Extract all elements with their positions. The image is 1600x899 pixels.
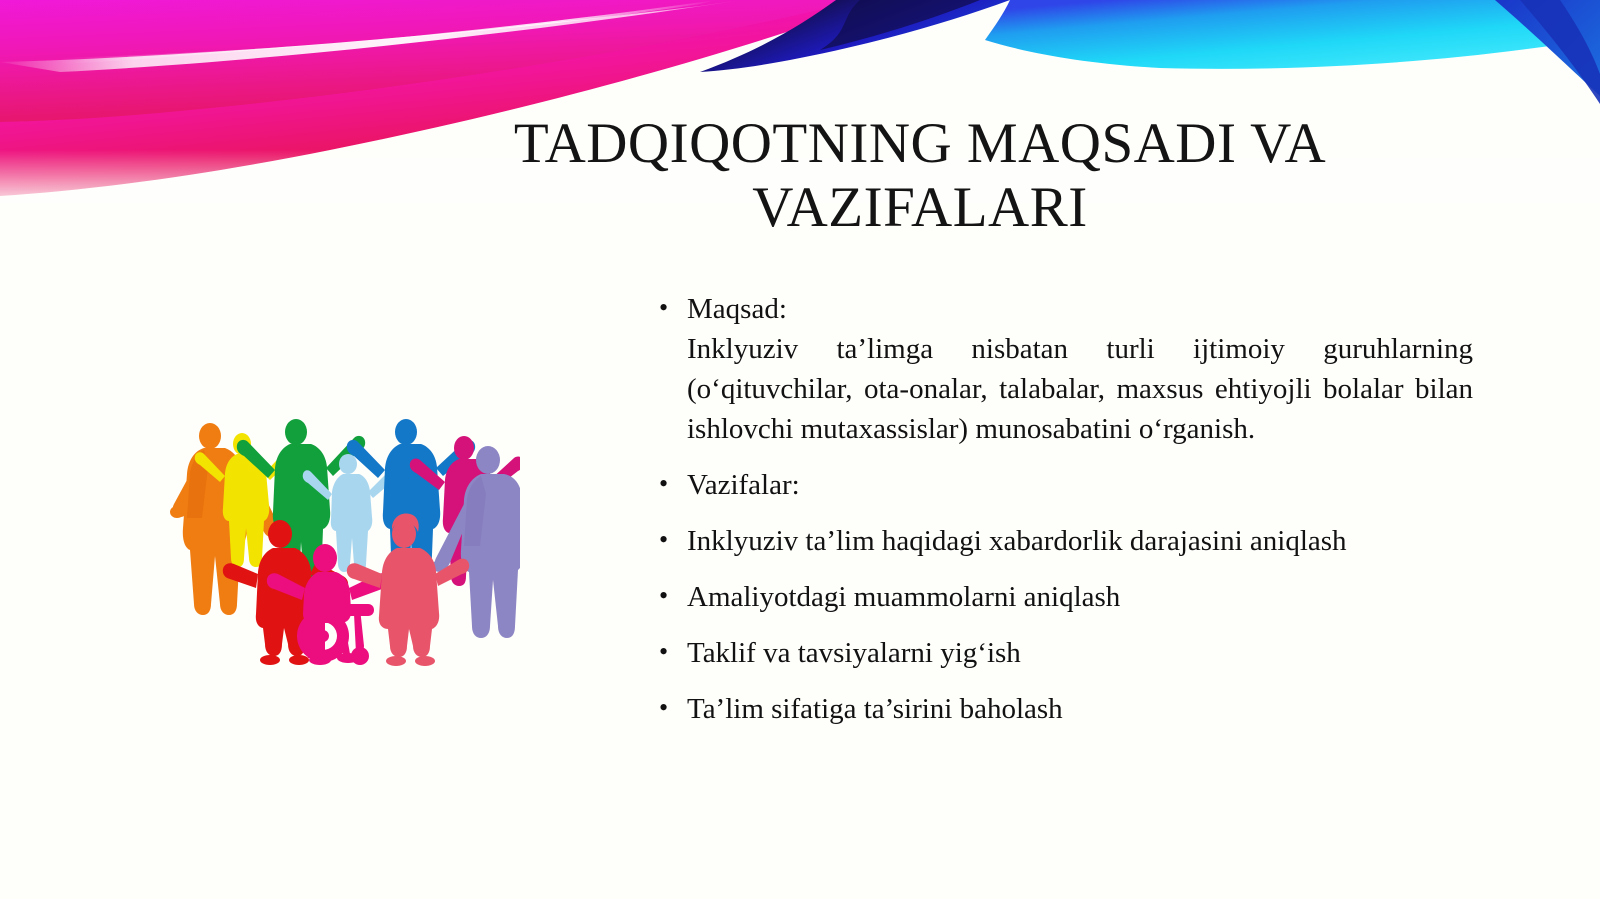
bullet-body-vazifalar: Vazifalar: (687, 465, 1473, 505)
bullet-body-muammolar: Amaliyotdagi muammolarni aniqlash (687, 577, 1473, 617)
bullet-paragraph-maqsad: Inklyuziv ta’limga nisbatan turli ijtimo… (687, 329, 1473, 449)
content-bullet-list: • Maqsad: Inklyuziv ta’limga nisbatan tu… (655, 289, 1473, 745)
bullet-item-taklif: • Taklif va tavsiyalarni yig‘ish (655, 633, 1473, 673)
bullet-item-maqsad: • Maqsad: Inklyuziv ta’limga nisbatan tu… (655, 289, 1473, 449)
bullet-body-xabardorlik: Inklyuziv ta’lim haqidagi xabardorlik da… (687, 521, 1473, 561)
bullet-item-muammolar: • Amaliyotdagi muammolarni aniqlash (655, 577, 1473, 617)
bullet-marker-icon: • (655, 465, 687, 503)
inclusive-people-circle-illustration (168, 408, 520, 670)
bullet-item-xabardorlik: • Inklyuziv ta’lim haqidagi xabardorlik … (655, 521, 1473, 561)
bullet-marker-icon: • (655, 689, 687, 727)
slide-title: TADQIQOTNING MAQSADI VA VAZIFALARI (420, 112, 1420, 240)
bullet-marker-icon: • (655, 521, 687, 559)
bullet-item-vazifalar: • Vazifalar: (655, 465, 1473, 505)
bullet-body-sifat: Ta’lim sifatiga ta’sirini baholash (687, 689, 1473, 729)
bullet-marker-icon: • (655, 633, 687, 671)
bullet-lead-vazifalar: Vazifalar: (687, 465, 1473, 505)
bullet-marker-icon: • (655, 289, 687, 327)
bullet-body-maqsad: Maqsad: Inklyuziv ta’limga nisbatan turl… (687, 289, 1473, 449)
bullet-lead-maqsad: Maqsad: (687, 289, 1473, 329)
bullet-item-sifat: • Ta’lim sifatiga ta’sirini baholash (655, 689, 1473, 729)
presentation-slide: TADQIQOTNING MAQSADI VA VAZIFALARI (0, 0, 1600, 899)
bullet-body-taklif: Taklif va tavsiyalarni yig‘ish (687, 633, 1473, 673)
bullet-marker-icon: • (655, 577, 687, 615)
